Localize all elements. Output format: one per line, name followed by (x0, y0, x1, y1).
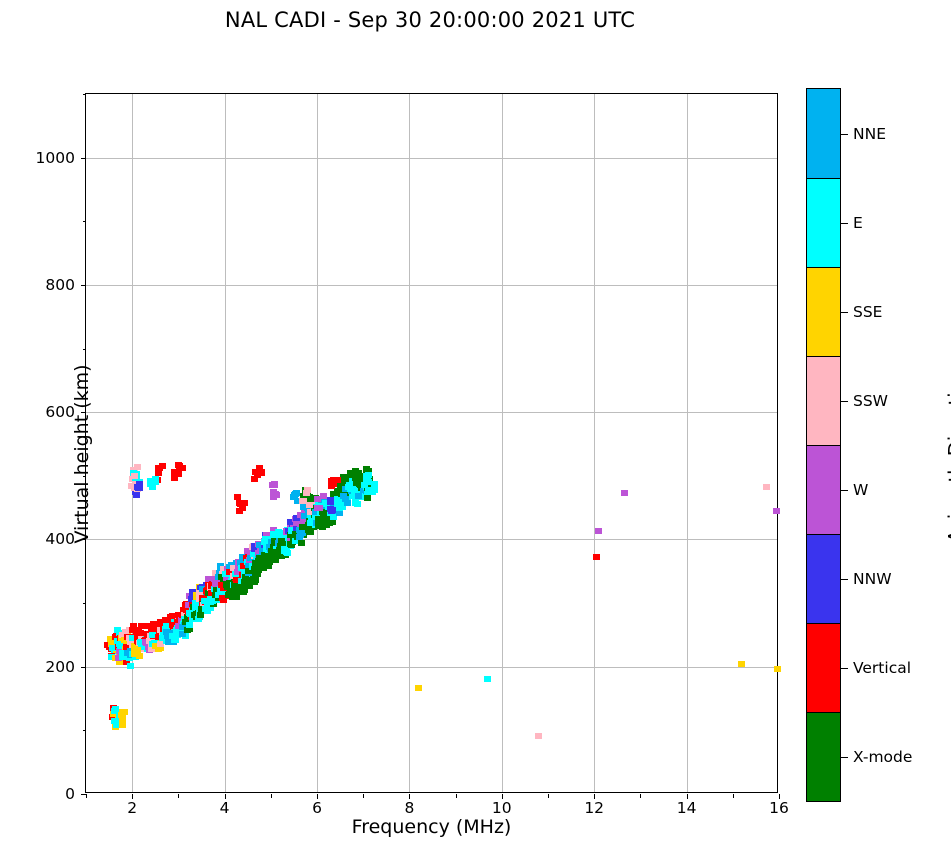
colorbar-segment-w (807, 445, 840, 534)
colorbar-segment-e (807, 178, 840, 267)
y-tick-label: 1000 (36, 149, 75, 167)
colorbar-segment-x-mode (807, 712, 840, 801)
data-point (535, 733, 542, 739)
data-point (234, 494, 241, 500)
x-tick-minor (640, 794, 641, 798)
colorbar-tick (841, 579, 848, 581)
data-point (484, 676, 491, 682)
data-point (175, 462, 182, 468)
colorbar-tick (841, 223, 848, 225)
data-point (318, 517, 325, 523)
colorbar-tick (841, 757, 848, 759)
colorbar-label-ssw: SSW (853, 392, 888, 410)
data-point (131, 473, 138, 479)
colorbar-tick (841, 668, 848, 670)
data-point (415, 685, 422, 691)
data-point (371, 487, 378, 493)
data-point (297, 531, 304, 537)
gridline-horizontal (86, 285, 777, 286)
plot-area: 24681012141602004006008001000 (85, 93, 778, 793)
colorbar-label-nnw: NNW (853, 570, 892, 588)
data-point (763, 484, 770, 490)
x-tick-label: 12 (584, 799, 604, 817)
colorbar-segment-nne (807, 89, 840, 178)
colorbar-segment-ssw (807, 356, 840, 445)
gridline-vertical (225, 94, 226, 792)
colorbar-tick (841, 312, 848, 314)
colorbar-divider (807, 623, 840, 624)
data-point (365, 479, 372, 485)
data-point (344, 500, 351, 506)
colorbar-title: Azimuth Direction (945, 100, 951, 812)
data-point (363, 473, 370, 479)
data-point (292, 491, 299, 497)
data-point (278, 538, 285, 544)
data-point (306, 502, 313, 508)
x-tick-label: 16 (769, 799, 789, 817)
x-tick-minor (271, 794, 272, 798)
data-point (186, 622, 193, 628)
data-point (364, 495, 371, 501)
data-point (319, 524, 326, 530)
x-tick-minor (363, 794, 364, 798)
colorbar-divider (807, 712, 840, 713)
colorbar-label-x-mode: X-mode (853, 748, 912, 766)
colorbar-divider (807, 178, 840, 179)
colorbar-tick (841, 134, 848, 136)
colorbar-label-sse: SSE (853, 303, 882, 321)
colorbar-divider (807, 534, 840, 535)
data-point (136, 485, 143, 491)
x-tick-minor (178, 794, 179, 798)
gridline-horizontal (86, 158, 777, 159)
colorbar-label-e: E (853, 214, 863, 232)
data-point (327, 506, 334, 512)
gridline-vertical (409, 94, 410, 792)
data-point (252, 577, 259, 583)
data-point (133, 492, 140, 498)
data-point (271, 481, 278, 487)
gridline-vertical (594, 94, 595, 792)
x-tick-minor (456, 794, 457, 798)
colorbar-divider (807, 267, 840, 268)
data-point (119, 722, 126, 728)
colorbar-label-nne: NNE (853, 125, 886, 143)
gridline-vertical (317, 94, 318, 792)
colorbar: NNEESSESSWWNNWVerticalX-mode (806, 88, 841, 802)
data-point (320, 493, 327, 499)
ionogram-figure: NAL CADI - Sep 30 20:00:00 2021 UTC 2468… (0, 0, 951, 856)
data-point (773, 508, 780, 514)
x-tick-minor (548, 794, 549, 798)
data-point (171, 469, 178, 475)
x-tick-label: 10 (492, 799, 512, 817)
data-point (621, 490, 628, 496)
gridline-vertical (502, 94, 503, 792)
x-tick-label: 4 (220, 799, 230, 817)
data-point (156, 465, 163, 471)
colorbar-segment-nnw (807, 534, 840, 623)
x-tick-label: 6 (312, 799, 322, 817)
data-point (327, 499, 334, 505)
data-point (131, 647, 138, 653)
y-axis-title: Virtual height (km) (71, 104, 93, 804)
gridline-horizontal (86, 412, 777, 413)
colorbar-tick (841, 490, 848, 492)
data-point (251, 476, 258, 482)
colorbar-segment-vertical (807, 623, 840, 712)
data-point (316, 505, 323, 511)
data-point (355, 493, 362, 499)
colorbar-divider (807, 445, 840, 446)
data-point (172, 637, 179, 643)
data-point (774, 666, 781, 672)
data-point (738, 661, 745, 667)
colorbar-label-vertical: Vertical (853, 659, 911, 677)
x-tick-label: 8 (404, 799, 414, 817)
data-point (314, 496, 321, 502)
data-point (152, 476, 159, 482)
data-point (281, 548, 288, 554)
gridline-vertical (687, 94, 688, 792)
data-point (303, 490, 310, 496)
data-point (273, 492, 280, 498)
x-tick-label: 14 (677, 799, 697, 817)
data-point (202, 606, 209, 612)
colorbar-tick (841, 401, 848, 403)
data-point (239, 505, 246, 511)
gridline-vertical (132, 94, 133, 792)
data-point (328, 481, 335, 487)
data-point (298, 540, 305, 546)
gridline-horizontal (86, 539, 777, 540)
figure-title: NAL CADI - Sep 30 20:00:00 2021 UTC (0, 8, 860, 32)
data-point (256, 465, 263, 471)
colorbar-segment-sse (807, 267, 840, 356)
data-point (127, 663, 134, 669)
colorbar-divider (807, 356, 840, 357)
y-tick-minor (83, 94, 87, 95)
data-point (270, 531, 277, 537)
x-axis-title: Frequency (MHz) (85, 816, 778, 838)
x-tick-label: 2 (127, 799, 137, 817)
data-point (121, 709, 128, 715)
data-point (595, 528, 602, 534)
data-point (352, 500, 359, 506)
data-point (593, 554, 600, 560)
colorbar-label-w: W (853, 481, 868, 499)
data-point (171, 475, 178, 481)
data-point (340, 493, 347, 499)
x-tick-minor (733, 794, 734, 798)
gridline-horizontal (86, 667, 777, 668)
